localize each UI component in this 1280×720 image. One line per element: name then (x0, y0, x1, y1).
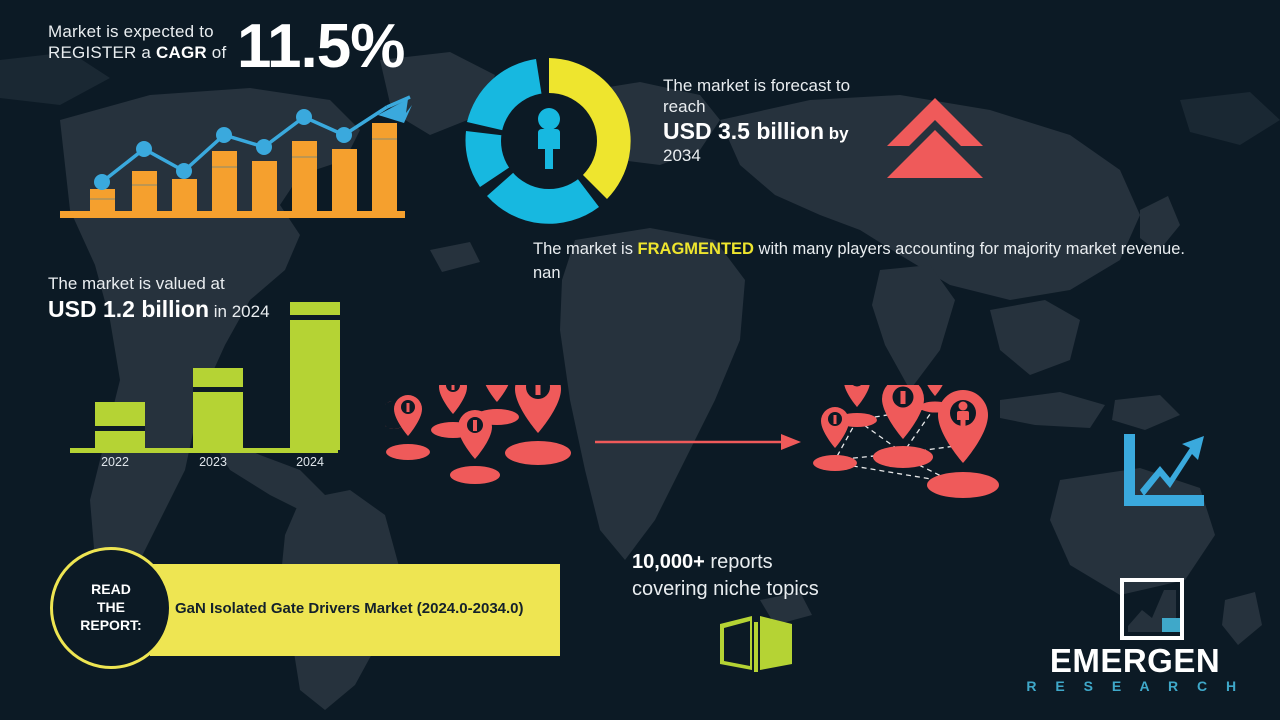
fragmentation-text: The market is FRAGMENTED with many playe… (533, 238, 1213, 286)
connected-map-pin-network-icon (805, 385, 1020, 500)
forecast-label-line1: The market is forecast to (663, 76, 893, 97)
cagr-value: 11.5% (237, 18, 404, 77)
logo-subtitle: R E S E A R C H (1020, 678, 1250, 694)
market-value-bars (70, 295, 340, 455)
bar-year-label-2023: 2023 (183, 455, 243, 469)
forecast-value: USD 3.5 billion by (663, 117, 893, 145)
double-chevron-up-icon (885, 96, 985, 178)
read-the-report-button[interactable]: READ THE REPORT: (50, 547, 172, 669)
reports-line2: covering niche topics (632, 576, 932, 603)
map-pin-cluster-icon (385, 385, 580, 495)
forecast-year: 2034 (663, 146, 893, 167)
open-book-icon (718, 612, 794, 674)
cta-line3: REPORT: (80, 617, 141, 633)
reports-line1: 10,000+ reports (632, 549, 932, 576)
reports-text: 10,000+ reports covering niche topics (632, 549, 932, 603)
frag-pre: The market is (533, 240, 638, 258)
infographic-canvas: Market is expected to REGISTER a CAGR of… (0, 0, 1280, 720)
report-title: GaN Isolated Gate Drivers Market (2024.0… (175, 600, 555, 617)
cta-line1: READ (91, 581, 131, 597)
growth-trend-bars (60, 85, 420, 225)
valuation-label: The market is valued at (48, 274, 348, 295)
forecast-block: The market is forecast to reach USD 3.5 … (663, 76, 893, 166)
bar-year-label-2022: 2022 (85, 455, 145, 469)
forecast-label-line2: reach (663, 97, 893, 118)
frag-highlight: FRAGMENTED (638, 240, 754, 258)
market-share-donut (462, 55, 637, 227)
cta-line2: THE (97, 599, 125, 615)
logo-mark-inner-icon (1124, 582, 1180, 636)
right-arrow-icon (595, 432, 805, 452)
growth-chart-icon (1120, 430, 1210, 515)
bar-year-label-2024: 2024 (280, 455, 340, 469)
logo-name: EMERGEN (1020, 642, 1250, 680)
